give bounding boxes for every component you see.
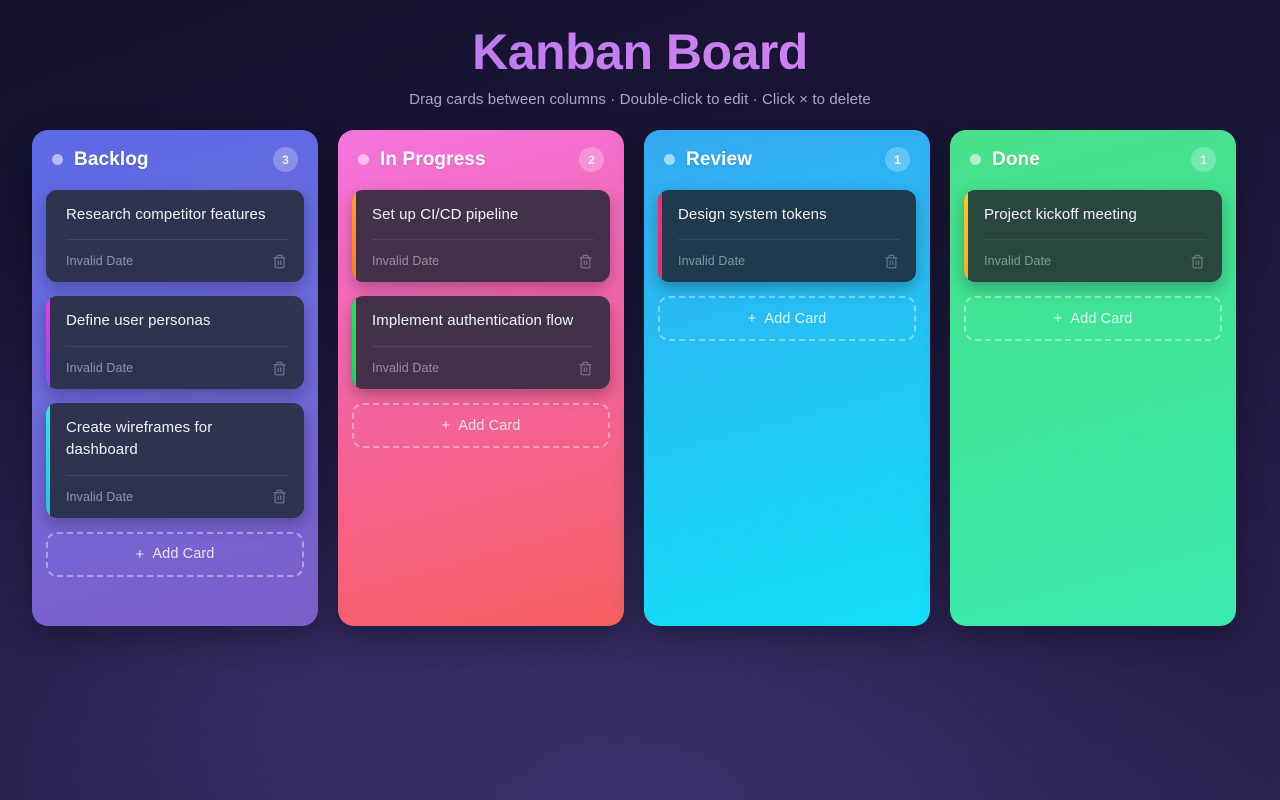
card-list-in-progress: Set up CI/CD pipeline Invalid Date Imple… — [352, 190, 610, 390]
trash-icon — [884, 254, 899, 269]
card-list-review: Design system tokens Invalid Date — [658, 190, 916, 283]
column-header-backlog: Backlog 3 — [46, 146, 304, 172]
card-footer: Invalid Date — [674, 252, 900, 270]
plus-icon: + — [136, 546, 145, 563]
page-title: Kanban Board — [0, 24, 1280, 82]
card-date: Invalid Date — [984, 254, 1051, 268]
card-list-done: Project kickoff meeting Invalid Date — [964, 190, 1222, 283]
trash-icon — [578, 361, 593, 376]
add-card-button[interactable]: + Add Card — [352, 403, 610, 448]
card-date: Invalid Date — [372, 254, 439, 268]
card-divider — [66, 346, 288, 347]
card-title: Define user personas — [62, 310, 288, 332]
card-footer: Invalid Date — [62, 252, 288, 270]
add-card-button[interactable]: + Add Card — [964, 296, 1222, 341]
column-title: Done — [992, 149, 1040, 171]
card-title: Implement authentication flow — [368, 310, 594, 332]
card-title: Create wireframes for dashboard — [62, 417, 288, 461]
page-subtitle: Drag cards between columns · Double-clic… — [0, 91, 1280, 108]
delete-card-button[interactable] — [270, 359, 288, 377]
add-card-button[interactable]: + Add Card — [46, 532, 304, 577]
plus-icon: + — [748, 310, 757, 327]
card[interactable]: Research competitor features Invalid Dat… — [46, 190, 304, 283]
column-header-in-progress: In Progress 2 — [352, 146, 610, 172]
delete-card-button[interactable] — [576, 359, 594, 377]
plus-icon: + — [442, 417, 451, 434]
card-date: Invalid Date — [66, 490, 133, 504]
card-date: Invalid Date — [66, 254, 133, 268]
trash-icon — [272, 489, 287, 504]
card[interactable]: Define user personas Invalid Date — [46, 296, 304, 389]
card-list-backlog: Research competitor features Invalid Dat… — [46, 190, 304, 518]
page-header: Kanban Board Drag cards between columns … — [0, 0, 1280, 108]
card-divider — [66, 239, 288, 240]
card-date: Invalid Date — [372, 361, 439, 375]
add-card-label: Add Card — [458, 418, 520, 434]
card-count-badge: 2 — [579, 147, 604, 172]
column-title: Review — [686, 149, 752, 171]
delete-card-button[interactable] — [576, 252, 594, 270]
card-footer: Invalid Date — [980, 252, 1206, 270]
card-count-badge: 1 — [885, 147, 910, 172]
card[interactable]: Design system tokens Invalid Date — [658, 190, 916, 283]
delete-card-button[interactable] — [270, 488, 288, 506]
kanban-board: Backlog 3 Research competitor features I… — [0, 108, 1280, 626]
trash-icon — [272, 254, 287, 269]
column-title: In Progress — [380, 149, 486, 171]
delete-card-button[interactable] — [270, 252, 288, 270]
column-title: Backlog — [74, 149, 149, 171]
column-header-done: Done 1 — [964, 146, 1222, 172]
column-backlog[interactable]: Backlog 3 Research competitor features I… — [32, 130, 318, 626]
status-dot-icon — [358, 154, 369, 165]
card-footer: Invalid Date — [62, 359, 288, 377]
card[interactable]: Implement authentication flow Invalid Da… — [352, 296, 610, 389]
card-footer: Invalid Date — [62, 488, 288, 506]
card[interactable]: Create wireframes for dashboard Invalid … — [46, 403, 304, 518]
card-title: Project kickoff meeting — [980, 204, 1206, 226]
column-done[interactable]: Done 1 Project kickoff meeting Invalid D… — [950, 130, 1236, 626]
trash-icon — [272, 361, 287, 376]
trash-icon — [1190, 254, 1205, 269]
status-dot-icon — [970, 154, 981, 165]
card[interactable]: Set up CI/CD pipeline Invalid Date — [352, 190, 610, 283]
card-footer: Invalid Date — [368, 359, 594, 377]
card-footer: Invalid Date — [368, 252, 594, 270]
card-date: Invalid Date — [66, 361, 133, 375]
card-divider — [372, 346, 594, 347]
card-count-badge: 3 — [273, 147, 298, 172]
card-divider — [66, 475, 288, 476]
column-header-review: Review 1 — [658, 146, 916, 172]
card-divider — [372, 239, 594, 240]
card-count-badge: 1 — [1191, 147, 1216, 172]
card-divider — [678, 239, 900, 240]
add-card-button[interactable]: + Add Card — [658, 296, 916, 341]
delete-card-button[interactable] — [1188, 252, 1206, 270]
add-card-label: Add Card — [152, 546, 214, 562]
delete-card-button[interactable] — [882, 252, 900, 270]
card-divider — [984, 239, 1206, 240]
column-in-progress[interactable]: In Progress 2 Set up CI/CD pipeline Inva… — [338, 130, 624, 626]
column-review[interactable]: Review 1 Design system tokens Invalid Da… — [644, 130, 930, 626]
status-dot-icon — [664, 154, 675, 165]
plus-icon: + — [1054, 310, 1063, 327]
status-dot-icon — [52, 154, 63, 165]
card-title: Set up CI/CD pipeline — [368, 204, 594, 226]
card-title: Design system tokens — [674, 204, 900, 226]
add-card-label: Add Card — [1070, 311, 1132, 327]
card-title: Research competitor features — [62, 204, 288, 226]
add-card-label: Add Card — [764, 311, 826, 327]
trash-icon — [578, 254, 593, 269]
card-date: Invalid Date — [678, 254, 745, 268]
card[interactable]: Project kickoff meeting Invalid Date — [964, 190, 1222, 283]
